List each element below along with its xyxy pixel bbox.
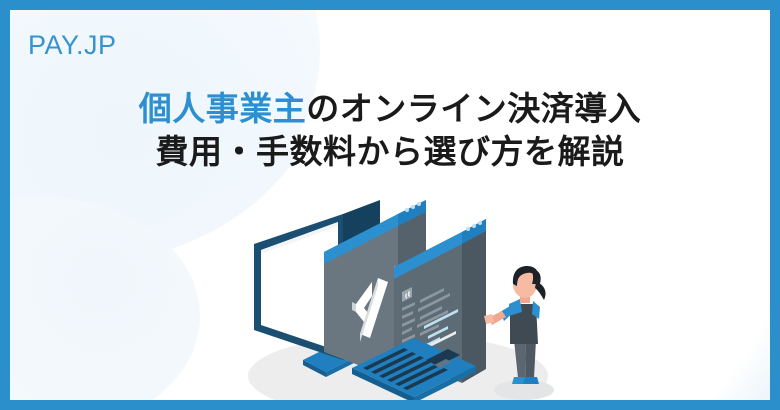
headline-line-2: 費用・手数料から選び方を解説 xyxy=(10,131,770,174)
person-shoe-right xyxy=(523,377,539,384)
front-window-dot-3 xyxy=(478,221,482,225)
front-window-dot-2 xyxy=(472,224,476,228)
banner-card: PAY.JP 個人事業主のオンライン決済導入 費用・手数料から選び方を解説 xyxy=(0,0,780,410)
window-dot-3 xyxy=(417,202,421,206)
front-window-dot-1 xyxy=(466,227,470,231)
window-dot-2 xyxy=(411,205,415,209)
illustration-svg xyxy=(248,200,568,400)
banner-canvas: PAY.JP 個人事業主のオンライン決済導入 費用・手数料から選び方を解説 xyxy=(10,10,770,400)
headline-highlight: 個人事業主 xyxy=(139,90,307,127)
person-ponytail xyxy=(535,282,546,300)
headline-block: 個人事業主のオンライン決済導入 費用・手数料から選び方を解説 xyxy=(10,88,770,174)
payjp-logo[interactable]: PAY.JP xyxy=(28,32,117,59)
code-window-front-side xyxy=(462,219,486,383)
window-dot-1 xyxy=(405,208,409,212)
headline-line-1-rest: のオンライン決済導入 xyxy=(306,90,641,127)
hero-illustration xyxy=(248,200,568,400)
headline-line-1: 個人事業主のオンライン決済導入 xyxy=(10,88,770,131)
